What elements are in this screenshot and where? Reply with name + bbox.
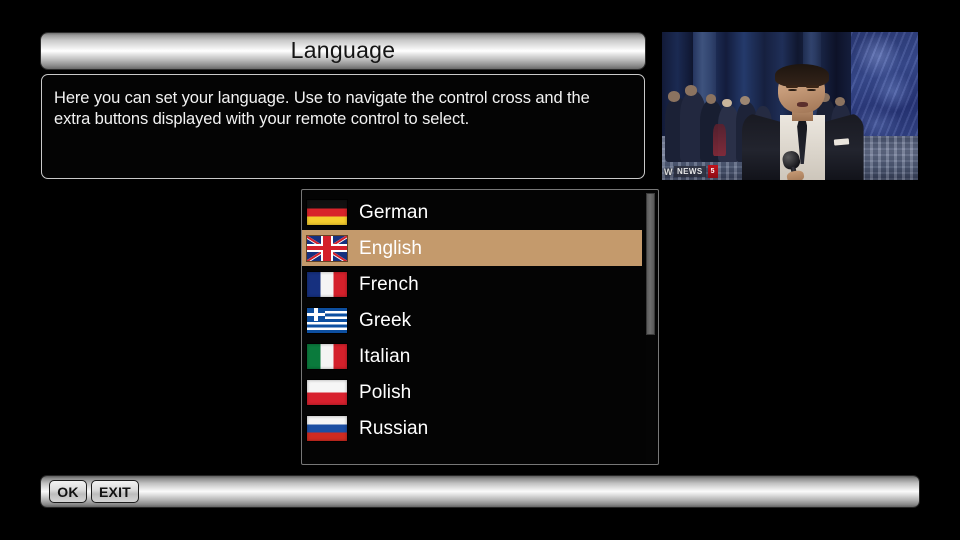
reporter-figure [746,68,859,180]
video-preview-window[interactable]: W NEWS 5 [662,32,918,180]
list-item-italian[interactable]: Italian [302,338,658,374]
language-list-panel[interactable]: German English French Greek [301,189,659,465]
channel-bug-name: NEWS [674,166,706,177]
list-item-label: Polish [359,383,411,402]
reporter-mouth [797,102,808,106]
crowd-head [668,91,680,101]
flag-france-icon [307,272,347,297]
crowd-head [706,94,716,104]
list-item-greek[interactable]: Greek [302,302,658,338]
flag-united-kingdom-icon [307,236,347,261]
list-item-label: Greek [359,311,411,330]
exit-button[interactable]: EXIT [91,480,139,503]
language-list: German English French Greek [302,190,658,446]
ok-button[interactable]: OK [49,480,87,503]
flag-germany-icon [307,200,347,225]
list-item-french[interactable]: French [302,266,658,302]
list-item-label: French [359,275,419,294]
crowd-figure-red-dress [713,124,726,157]
list-item-label: Russian [359,419,428,438]
channel-logo-bug: W NEWS 5 [664,165,718,178]
video-preview-frame: W NEWS 5 [662,32,918,180]
flag-russia-icon [307,416,347,441]
page-title: Language [291,39,396,64]
crowd-head [685,85,697,95]
exit-button-label: EXIT [99,484,131,500]
list-item-german[interactable]: German [302,194,658,230]
description-text: Here you can set your language. Use to n… [54,88,630,130]
list-item-label: English [359,239,422,258]
ok-button-label: OK [57,484,78,500]
bottom-button-bar: OK EXIT [41,476,919,507]
tv-settings-screen: Language Here you can set your language.… [0,0,960,540]
reporter-hair [775,64,829,86]
reporter-eyebrow-left [786,85,798,88]
window-title-bar: Language [41,33,645,69]
flag-poland-icon [307,380,347,405]
channel-bug-corner: 5 [708,165,718,178]
list-item-label: Italian [359,347,410,366]
reporter-eyebrow-right [806,85,818,88]
list-item-english[interactable]: English [302,230,642,266]
list-scrollbar-thumb[interactable] [646,193,655,335]
description-panel: Here you can set your language. Use to n… [41,74,645,179]
list-scrollbar-track[interactable] [646,193,655,463]
list-item-label: German [359,203,428,222]
flag-greece-icon [307,308,347,333]
list-item-russian[interactable]: Russian [302,410,658,446]
flag-italy-icon [307,344,347,369]
list-item-polish[interactable]: Polish [302,374,658,410]
channel-bug-prefix: W [664,167,672,177]
